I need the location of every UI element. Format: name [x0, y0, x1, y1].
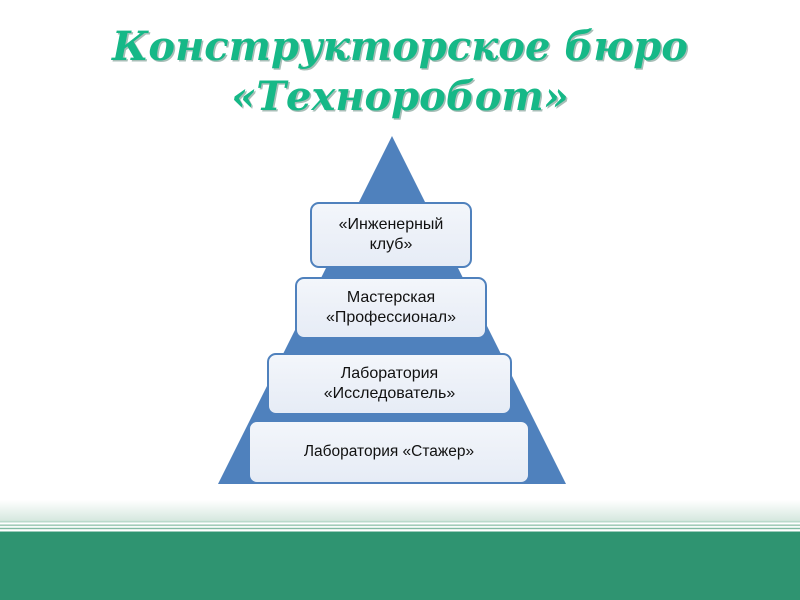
- pyramid-level-4-label: Лаборатория «Стажер»: [298, 443, 480, 462]
- slide-canvas: Конструкторское бюро «Техноробот» «Инжен…: [0, 0, 800, 600]
- pyramid-level-1-label: «Инженерный клуб»: [312, 215, 470, 254]
- pyramid-level-4[interactable]: Лаборатория «Стажер»: [248, 420, 530, 484]
- pyramid-level-2[interactable]: Мастерская «Профессионал»: [295, 277, 487, 339]
- pyramid-diagram: «Инженерный клуб» Мастерская «Профессион…: [0, 0, 800, 500]
- pyramid-level-3-label: Лаборатория «Исследователь»: [269, 364, 510, 403]
- footer-band: [0, 533, 800, 600]
- pyramid-level-1[interactable]: «Инженерный клуб»: [310, 202, 472, 268]
- pyramid-level-3[interactable]: Лаборатория «Исследователь»: [267, 353, 512, 415]
- pyramid-level-2-label: Мастерская «Профессионал»: [297, 288, 485, 327]
- footer-gradient-stripes: [0, 500, 800, 533]
